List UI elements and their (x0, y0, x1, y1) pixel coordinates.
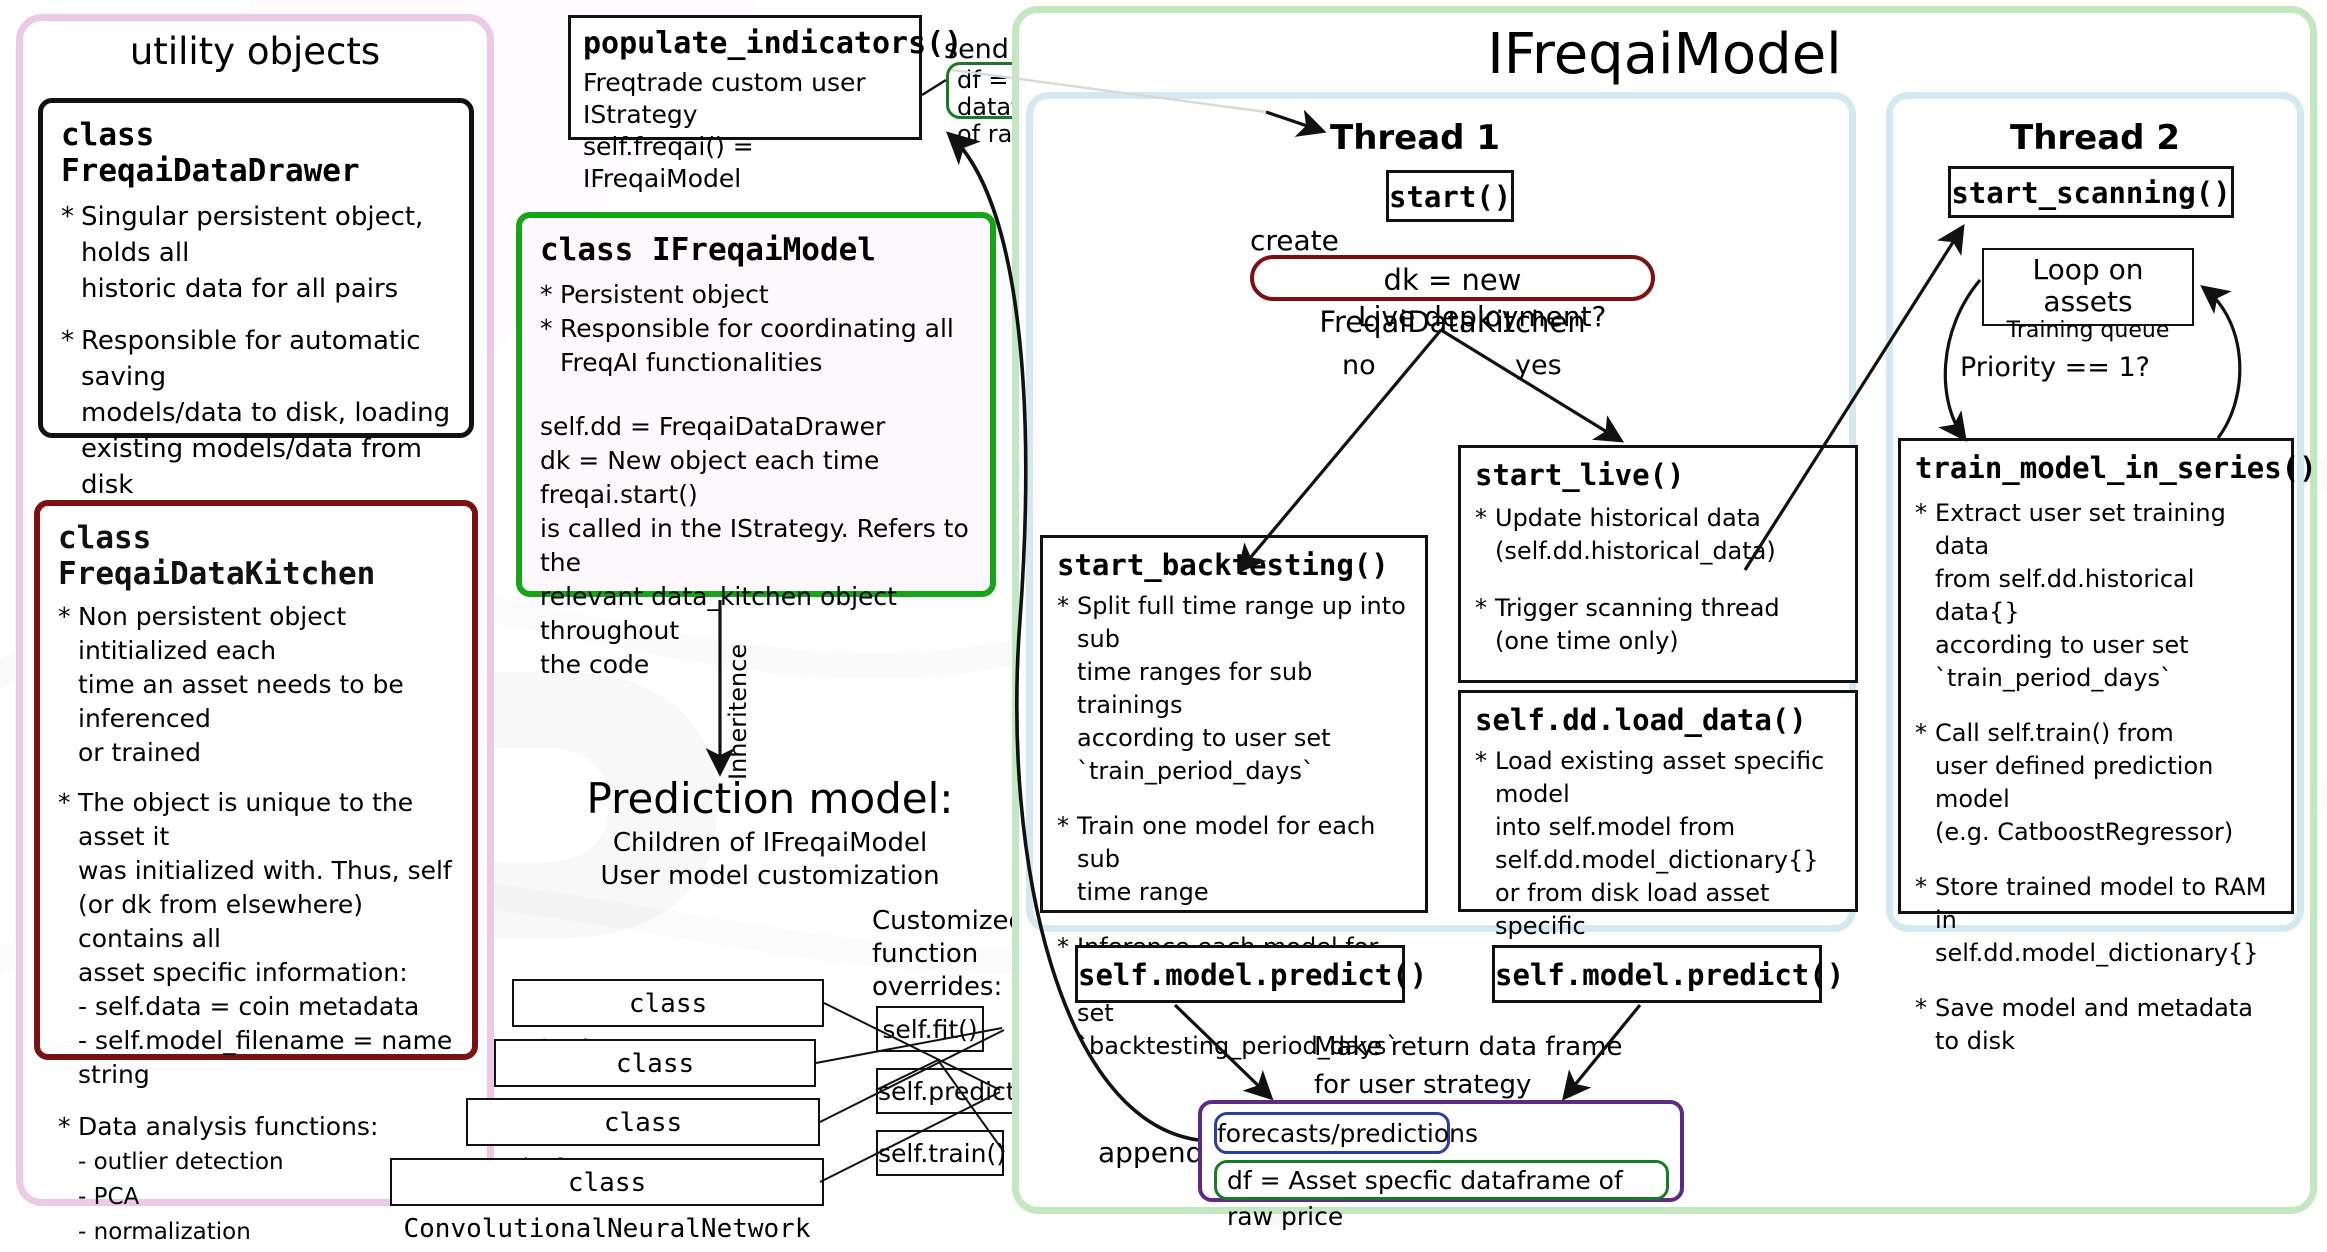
freqai-data-kitchen-bullets: * Non persistent object intitialized eac… (58, 600, 454, 1249)
start-box: start() (1386, 170, 1514, 222)
return-dataframe-box: df = Asset specfic dataframe of raw pric… (1214, 1160, 1669, 1200)
ifreqai-model-class-title: class IFreqaiModel (540, 232, 972, 268)
list-item: * Trigger scanning thread (one time only… (1475, 592, 1841, 658)
list-item: * Split full time range up into sub time… (1057, 590, 1411, 788)
dk-new-kitchen-pill: dk = new FreqaiDataKitchen (1250, 255, 1655, 301)
freqai-data-kitchen-title: class FreqaiDataKitchen (58, 520, 454, 592)
list-item: * Store trained model to RAM in self.dd.… (1915, 871, 2277, 970)
make-return-dataframe-label: Make return data frame for user strategy (1314, 1028, 1622, 1104)
ifreqai-model-class-body: self.dd = FreqaiDataDrawer dk = New obje… (540, 410, 972, 682)
load-data-title: self.dd.load_data() (1475, 703, 1841, 737)
list-item: * Extract user set training data from se… (1915, 497, 2277, 695)
thread2-title: Thread 2 (1886, 118, 2304, 158)
list-item: * Load existing asset specific model int… (1475, 745, 1841, 976)
load-data-card: self.dd.load_data() * Load existing asse… (1458, 690, 1858, 912)
train-model-in-series-title: train_model_in_series() (1915, 451, 2277, 485)
create-label: create (1250, 224, 1339, 257)
list-item: * Call self.train() from user defined pr… (1915, 717, 2277, 849)
list-item: * Singular persistent object, holds all … (61, 199, 451, 307)
thread1-title: Thread 1 (1330, 118, 1500, 158)
start-live-card: start_live() * Update historical data (s… (1458, 445, 1858, 683)
class-box-reinforcement-learner: class ReinforcementLearner (466, 1098, 820, 1146)
freqai-data-drawer-card: class FreqaiDataDrawer * Singular persis… (38, 98, 474, 438)
prediction-model-heading: Prediction model: Children of IFreqaiMod… (560, 775, 980, 893)
start-live-title: start_live() (1475, 458, 1841, 492)
start-live-bullets: * Update historical data (self.dd.histor… (1475, 502, 1841, 658)
populate-indicators-title: populate_indicators() (583, 26, 907, 61)
branch-no-label: no (1342, 350, 1376, 381)
send-label: send (944, 34, 1009, 65)
self-model-predict-right-box: self.model.predict() (1492, 945, 1822, 1003)
live-deployment-decision-label: Live deployment? (1358, 300, 1606, 333)
class-box-catboost-regressor: class CatboostRegressor (512, 979, 824, 1027)
list-item: * Persistent object (540, 278, 972, 312)
list-item: * Responsible for coordinating all FreqA… (540, 312, 972, 380)
populate-indicators-body: Freqtrade custom user IStrategy self.fre… (583, 67, 907, 195)
return-dataframe-container: forecasts/predictions df = Asset specfic… (1198, 1100, 1684, 1202)
branch-yes-label: yes (1515, 350, 1562, 381)
class-box-lightgbm-classifier: class LightGBMClassifier (494, 1039, 816, 1087)
utility-objects-heading: utility objects (16, 30, 494, 73)
train-model-in-series-bullets: * Extract user set training data from se… (1915, 497, 2277, 1058)
load-data-bullets: * Load existing asset specific model int… (1475, 745, 1841, 976)
ifreqai-model-panel-title: IFreqaiModel (1012, 22, 2317, 87)
class-box-convolutional-neural-network: class ConvolutionalNeuralNetwork (390, 1158, 824, 1206)
list-item: * Responsible for automatic saving model… (61, 323, 451, 503)
freqai-data-kitchen-card: class FreqaiDataKitchen * Non persistent… (34, 500, 478, 1060)
self-model-predict-left-box: self.model.predict() (1075, 945, 1405, 1003)
freqai-data-drawer-title: class FreqaiDataDrawer (61, 117, 451, 189)
list-item: * The object is unique to the asset it w… (58, 786, 454, 1092)
append-label: append (1098, 1136, 1203, 1169)
list-item: * Save model and metadata to disk (1915, 992, 2277, 1058)
list-item: * Train one model for each sub time rang… (1057, 810, 1411, 909)
override-box-self-train: self.train() (876, 1130, 1004, 1176)
start-backtesting-card: start_backtesting() * Split full time ra… (1040, 535, 1428, 913)
list-item: * Non persistent object intitialized eac… (58, 600, 454, 770)
priority-condition-label: Priority == 1? (1960, 352, 2150, 383)
customized-overrides-label: Customized function overrides: (872, 905, 1025, 1004)
train-model-in-series-card: train_model_in_series() * Extract user s… (1898, 438, 2294, 914)
populate-indicators-card: populate_indicators() Freqtrade custom u… (568, 15, 922, 140)
override-box-self-fit: self.fit() (876, 1006, 984, 1052)
ifreqai-model-class-card: class IFreqaiModel * Persistent object *… (516, 212, 996, 597)
inheritance-label: Inheritence (700, 620, 740, 780)
list-item: * Update historical data (self.dd.histor… (1475, 502, 1841, 568)
diagram-canvas: P qAI B utility objects class FreqaiData… (0, 0, 2327, 1225)
override-box-self-predict: self.predict() (876, 1068, 1028, 1114)
loop-on-assets-box: Loop on assets Training queue (1982, 248, 2194, 326)
start-scanning-box: start_scanning() (1948, 166, 2234, 218)
forecasts-predictions-box: forecasts/predictions (1214, 1112, 1450, 1154)
start-backtesting-title: start_backtesting() (1057, 548, 1411, 582)
ifreqai-model-class-bullets: * Persistent object * Responsible for co… (540, 278, 972, 380)
